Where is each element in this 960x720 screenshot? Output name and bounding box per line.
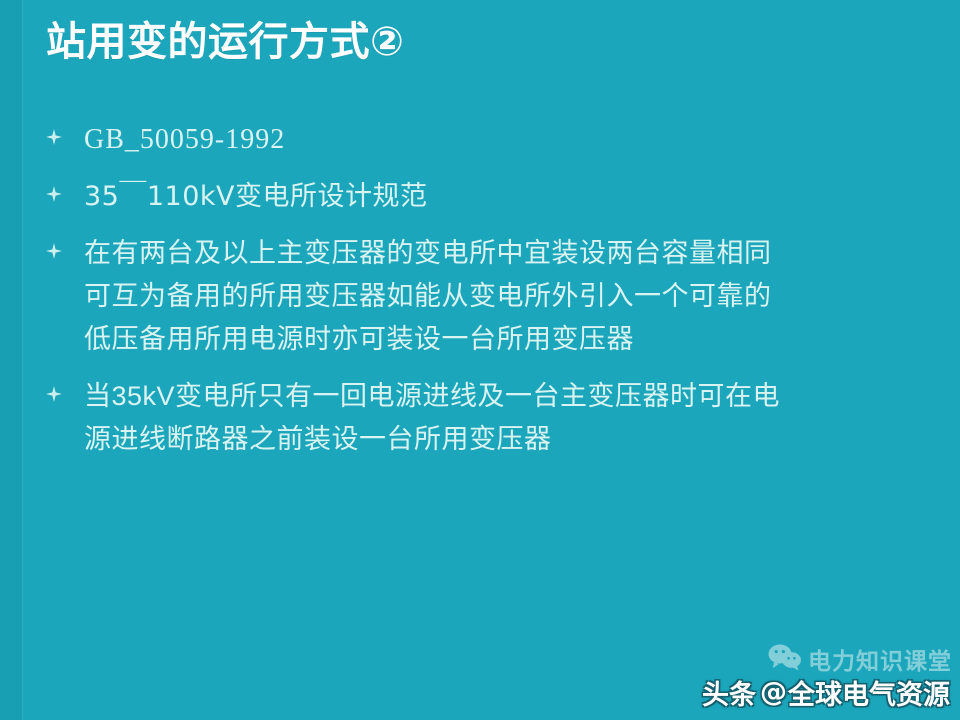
list-item-text: 当35kV变电所只有一回电源进线及一台主变压器时可在电 源进线断路器之前装设一台… <box>84 375 936 461</box>
toutiao-watermark: 头条 @ 全球电气资源 <box>702 673 950 712</box>
list-item: 在有两台及以上主变压器的变电所中宜装设两台容量相同 可互为备用的所用变压器如能从… <box>46 232 936 361</box>
left-accent-band <box>0 0 22 720</box>
sparkle-bullet-icon <box>46 375 84 402</box>
sparkle-bullet-icon <box>46 232 84 259</box>
wechat-watermark-text: 电力知识课堂 <box>808 642 952 676</box>
toutiao-brand: 头条 <box>702 673 756 712</box>
text-line: 低压备用所用电源时亦可装设一台所用变压器 <box>84 318 936 361</box>
list-item-text: 在有两台及以上主变压器的变电所中宜装设两台容量相同 可互为备用的所用变压器如能从… <box>84 232 936 361</box>
list-item: GB_50059-1992 <box>46 118 936 161</box>
left-accent-divider <box>22 0 23 720</box>
text-line: 可互为备用的所用变压器如能从变电所外引入一个可靠的 <box>84 275 936 318</box>
text-line: 当35kV变电所只有一回电源进线及一台主变压器时可在电 <box>84 375 936 418</box>
toutiao-account-name: 全球电气资源 <box>788 673 950 712</box>
text-line: 在有两台及以上主变压器的变电所中宜装设两台容量相同 <box>84 232 936 275</box>
sparkle-bullet-icon <box>46 175 84 202</box>
sparkle-bullet-icon <box>46 118 84 145</box>
list-item-text: GB_50059-1992 <box>84 118 936 161</box>
page-title: 站用变的运行方式② <box>46 17 404 67</box>
list-item-text: 35￣110kV变电所设计规范 <box>84 175 936 218</box>
wechat-icon <box>768 643 802 676</box>
bullet-list: GB_50059-1992 35￣110kV变电所设计规范 在有两台及以上主 <box>46 118 936 475</box>
text-line: GB_50059-1992 <box>84 118 936 161</box>
toutiao-at-symbol: @ <box>760 677 787 708</box>
text-line: 35￣110kV变电所设计规范 <box>84 175 936 218</box>
wechat-watermark: 电力知识课堂 <box>768 642 952 676</box>
slide-canvas: 站用变的运行方式② GB_50059-1992 35￣110kV变电所设计规范 <box>0 0 960 720</box>
list-item: 35￣110kV变电所设计规范 <box>46 175 936 218</box>
text-line: 源进线断路器之前装设一台所用变压器 <box>84 418 936 461</box>
list-item: 当35kV变电所只有一回电源进线及一台主变压器时可在电 源进线断路器之前装设一台… <box>46 375 936 461</box>
